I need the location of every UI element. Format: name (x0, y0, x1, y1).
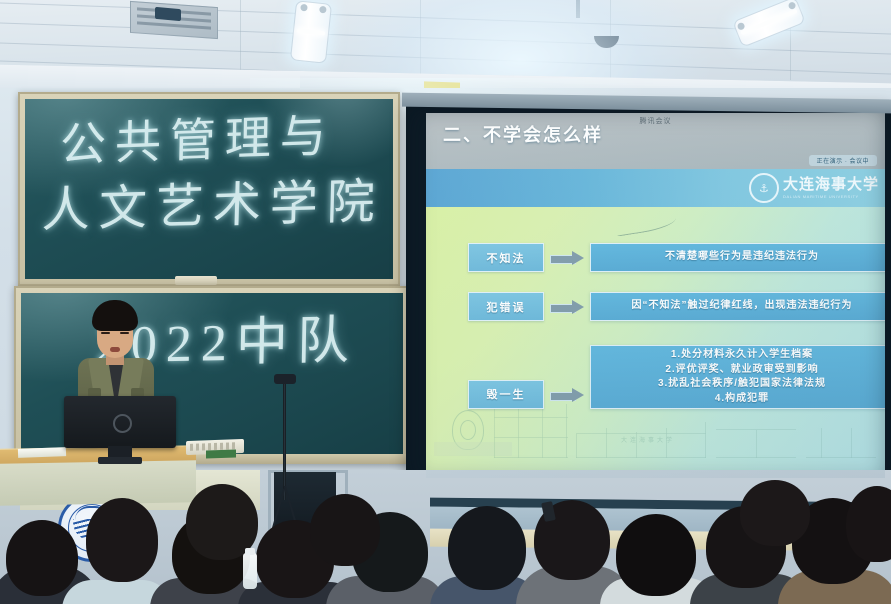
flow-label-box: 不知法 (468, 243, 544, 272)
flow-row: 毁一生 1.处分材料永久计入学生档案 2.评优评奖、就业政审受到影响 3.扰乱社… (468, 345, 885, 409)
pen-annotation (615, 212, 677, 236)
detail-line: 3.扰乱社会秩序/触犯国家法律法规 (658, 377, 826, 392)
flow-detail-box: 不清楚哪些行为是违纪违法行为 (590, 243, 885, 272)
flow-label-box: 犯错误 (468, 292, 544, 321)
flow-detail-box: 因“不知法”触过纪律红线，出现违法违纪行为 (590, 292, 885, 321)
detail-line: 4.构成犯罪 (715, 392, 769, 407)
arrow-right-icon (550, 301, 584, 312)
monitor-brand-logo-icon (113, 414, 132, 433)
audience-head (6, 520, 78, 596)
projector-screen: 腾讯会议 二、不学会怎么样 正在演示 · 会议中 ⚓ 大连海事大学 DALIAN… (406, 104, 891, 486)
university-name-en: DALIAN MARITIME UNIVERSITY (783, 194, 879, 199)
camera-tripod-head (274, 374, 296, 384)
air-vent-opening (155, 7, 181, 21)
lectern-front (0, 460, 196, 505)
projector-mount (576, 0, 580, 18)
audience-head (86, 498, 158, 582)
camera-tripod-pole (283, 384, 286, 500)
flow-row: 不知法 不清楚哪些行为是违纪违法行为 (468, 243, 885, 272)
university-logo: ⚓ 大连海事大学 DALIAN MARITIME UNIVERSITY (749, 173, 879, 203)
ceiling-tile-line (420, 0, 421, 80)
flow-detail-box-multiline: 1.处分材料永久计入学生档案 2.评优评奖、就业政审受到影响 3.扰乱社会秩序/… (590, 345, 885, 409)
slide-body: 大连海事大学 不知法 不清楚哪些行为是违纪违法行为 犯错误 因“不知 (426, 207, 885, 478)
presentation-slide: 腾讯会议 二、不学会怎么样 正在演示 · 会议中 ⚓ 大连海事大学 DALIAN… (426, 113, 885, 478)
fluorescent-light-icon (732, 0, 806, 48)
water-bottle (243, 553, 257, 589)
chalk-tray-chalk (175, 276, 217, 285)
papers-on-desk (18, 447, 66, 458)
desktop-monitor (64, 396, 176, 448)
ceiling-tile-line (240, 0, 241, 80)
audience-head (310, 494, 380, 566)
detail-line: 2.评优评奖、就业政审受到影响 (665, 363, 818, 378)
university-name-cn: 大连海事大学 (783, 177, 879, 192)
green-notebook (206, 449, 236, 458)
audience-head (740, 480, 810, 546)
fluorescent-light-icon (290, 0, 332, 63)
audience-head (448, 506, 526, 590)
blackboard-text-line2: 人文艺术学院 (41, 161, 385, 240)
watermark-plate (434, 442, 512, 456)
detail-line: 1.处分材料永久计入学生档案 (671, 348, 813, 363)
presenting-badge: 正在演示 · 会议中 (809, 155, 877, 166)
slide-title: 二、不学会怎么样 (443, 121, 603, 147)
anchor-seal-icon: ⚓ (749, 173, 779, 203)
dome-camera-icon (594, 36, 619, 48)
arrow-right-icon (550, 389, 584, 400)
arrow-right-icon (550, 252, 584, 263)
classroom-photo-scene: 公共管理与 人文艺术学院 2022中队 (0, 0, 891, 604)
bottle-cap (245, 548, 255, 555)
watermark-caption: 大连海事大学 (621, 435, 675, 444)
flow-row: 犯错误 因“不知法”触过纪律红线，出现违法违纪行为 (468, 292, 885, 321)
monitor-base (98, 457, 142, 464)
audience-head (616, 514, 696, 596)
flow-label-box: 毁一生 (468, 380, 544, 409)
